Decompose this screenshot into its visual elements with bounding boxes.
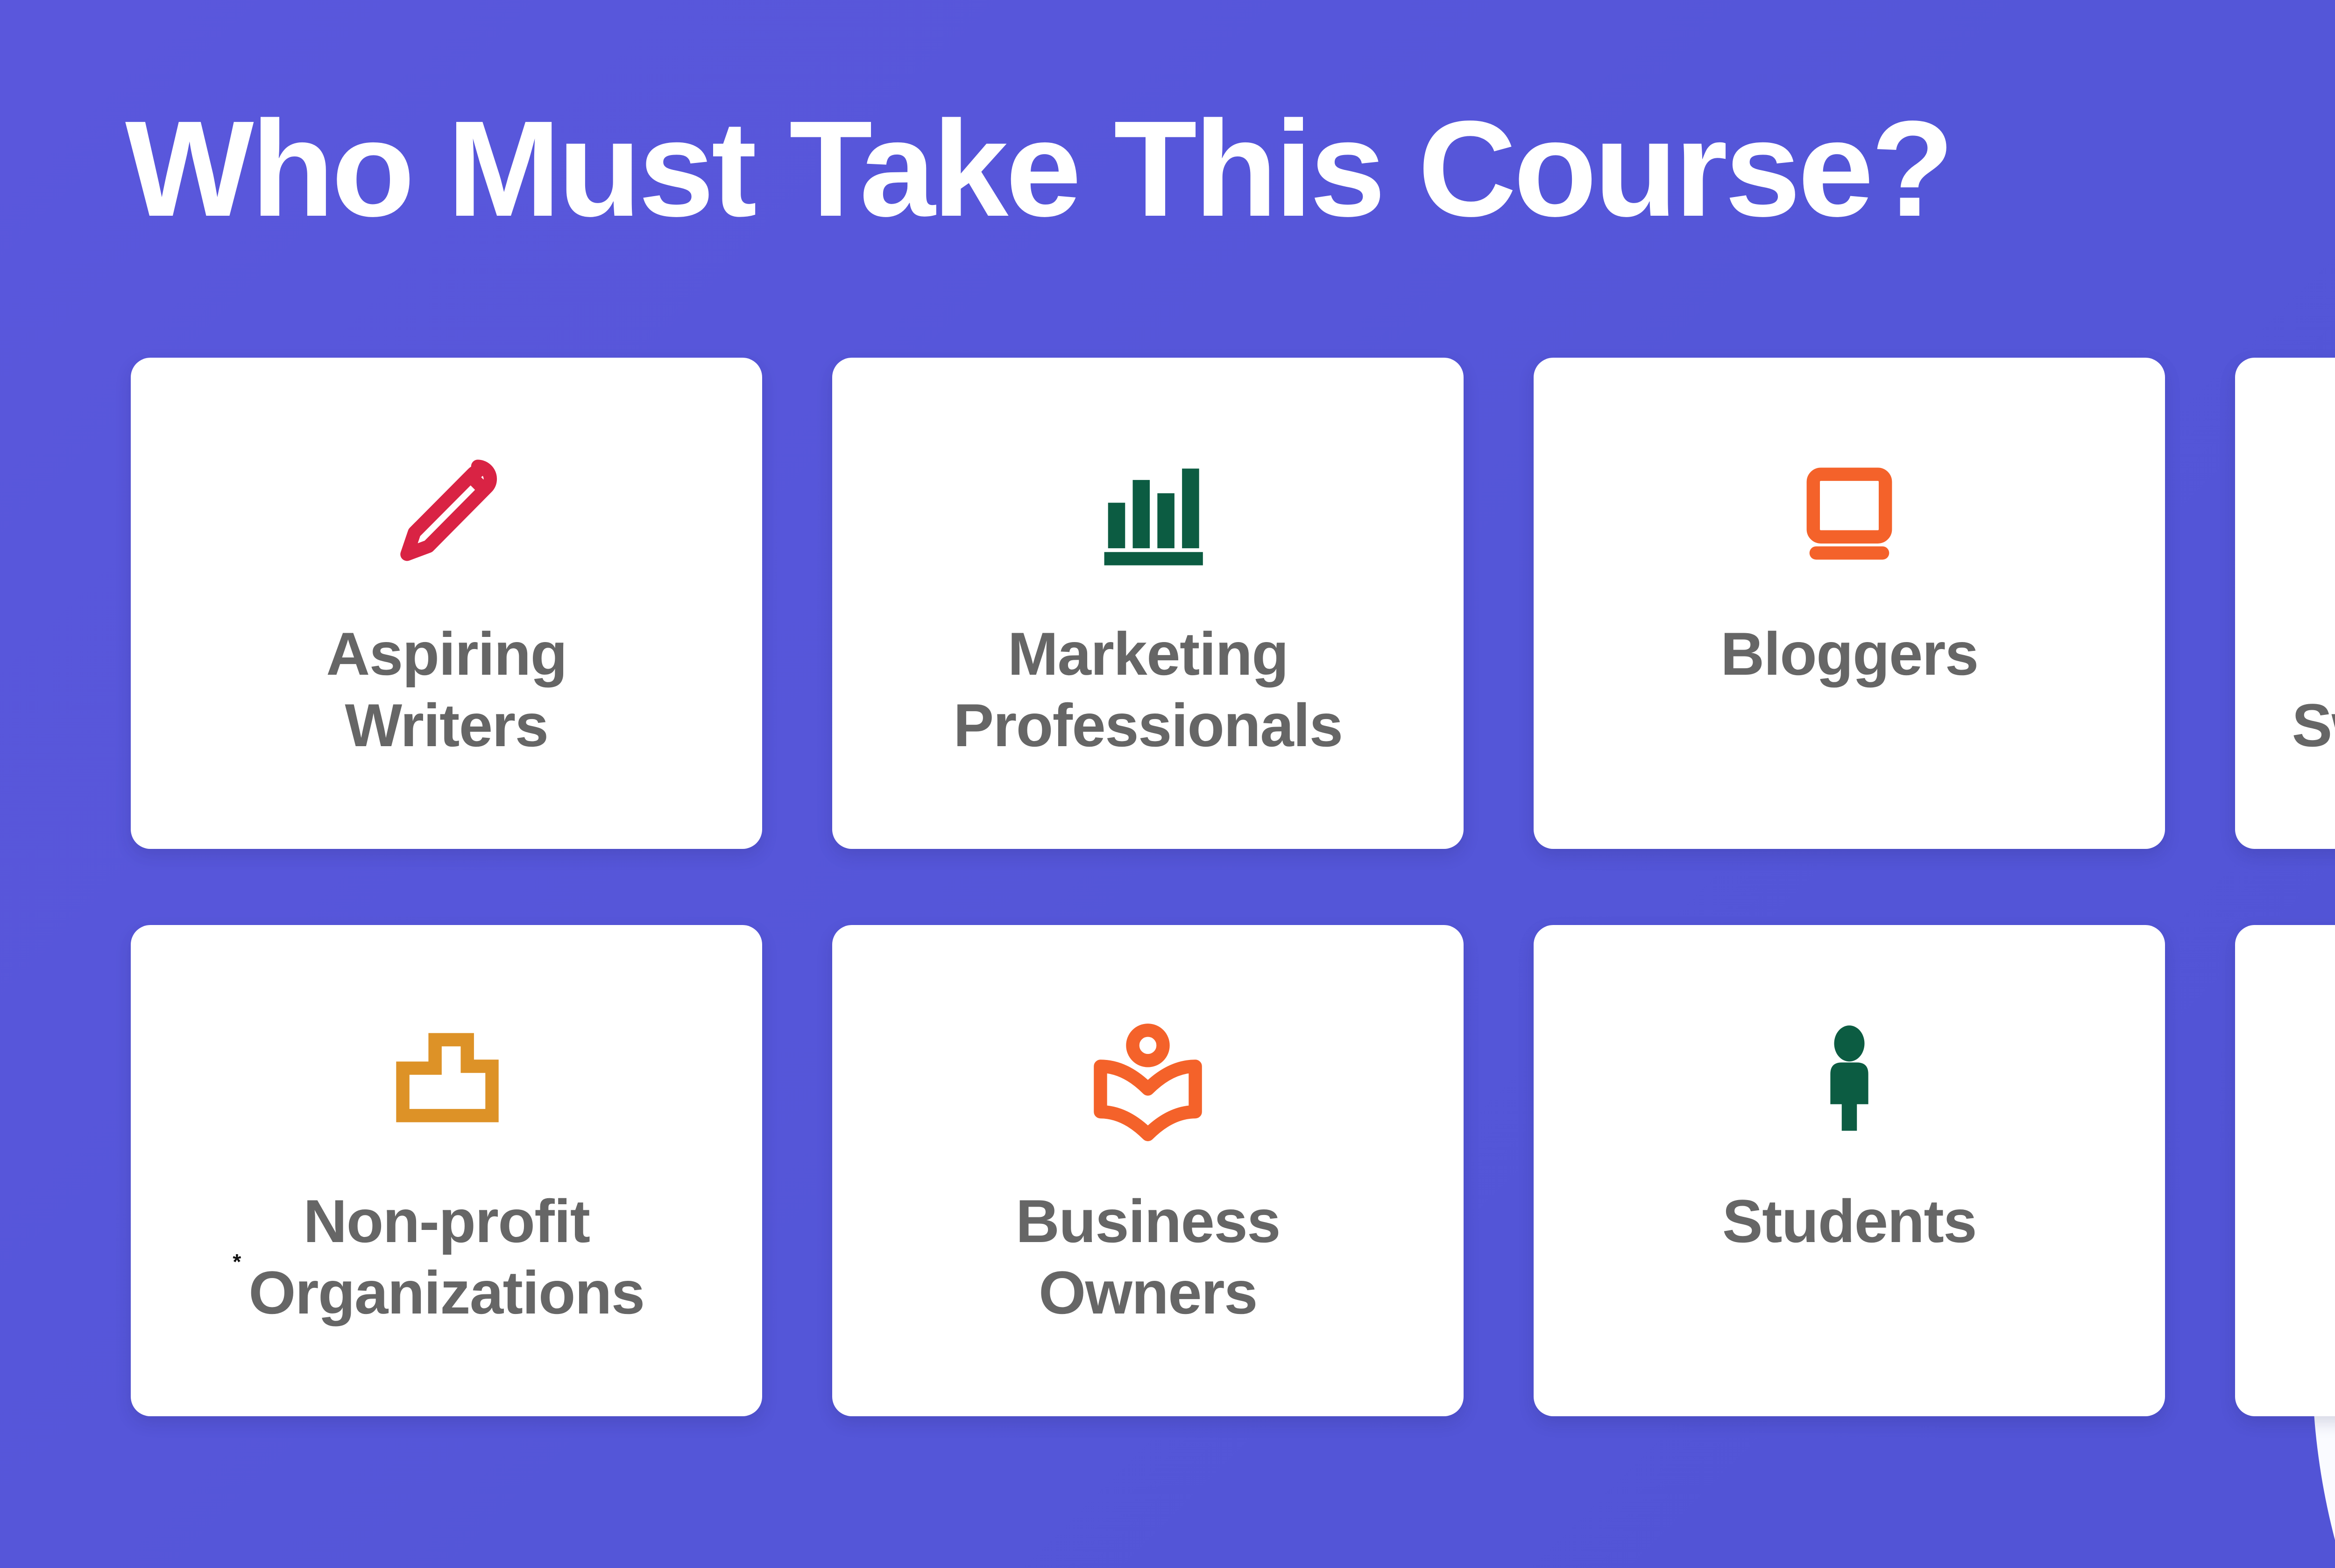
audience-card-label: Business Owners (997, 1186, 1299, 1329)
label-line-2: Professionals (953, 690, 1342, 761)
page-title: Who Must Take This Course? (125, 97, 1952, 240)
label-line-1: Professionals (2292, 618, 2335, 690)
open-book-reader-icon (1087, 1004, 1209, 1158)
audience-card-grid: Aspiring Writers Marketing (131, 358, 2335, 1416)
audience-card-label: Aspiring Writers (307, 618, 585, 762)
laptop-icon (1789, 437, 1910, 591)
label-line-2: Owners (1016, 1257, 1280, 1328)
person-icon (1789, 1004, 1910, 1158)
audience-card-non-profit-organizations[interactable]: Non-profit * Organizations (131, 925, 762, 1416)
audience-card-marketing-professionals[interactable]: Marketing Professionals (832, 358, 1464, 849)
audience-card-label: Professionals Switching Careers (2273, 618, 2335, 762)
label-line-1: Students (1722, 1186, 1976, 1257)
label-line-2: Switching Careers (2292, 690, 2335, 761)
pencil-icon (386, 437, 507, 591)
label-line-2: Writers (326, 690, 566, 761)
audience-card-label: Bloggers (1702, 618, 1996, 690)
asterisk-mark: * (233, 1251, 240, 1272)
bar-chart-icon (1087, 437, 1209, 591)
label-line-1: Aspiring (326, 618, 566, 690)
audience-card-bloggers[interactable]: Bloggers (1534, 358, 2165, 849)
audience-card-freelancer[interactable]: Freelancer (2235, 925, 2335, 1416)
building-bars-icon (386, 1004, 507, 1158)
label-line-1: Marketing (953, 618, 1342, 690)
audience-card-professionals-switching-careers[interactable]: Professionals Switching Careers (2235, 358, 2335, 849)
label-line-1: Bloggers (1720, 618, 1978, 690)
audience-card-aspiring-writers[interactable]: Aspiring Writers (131, 358, 762, 849)
label-line-1: Non-profit (248, 1186, 644, 1257)
section-background: Who Must Take This Course? Aspiring Writ… (0, 0, 2335, 1568)
audience-card-students[interactable]: Students (1534, 925, 2165, 1416)
audience-card-label: Marketing Professionals (934, 618, 1361, 762)
label-line-1: Business (1016, 1186, 1280, 1257)
audience-card-business-owners[interactable]: Business Owners (832, 925, 1464, 1416)
audience-card-label: Non-profit * Organizations (230, 1186, 663, 1329)
label-line-2: Organizations (248, 1257, 644, 1328)
audience-card-label: Students (1704, 1186, 1995, 1257)
